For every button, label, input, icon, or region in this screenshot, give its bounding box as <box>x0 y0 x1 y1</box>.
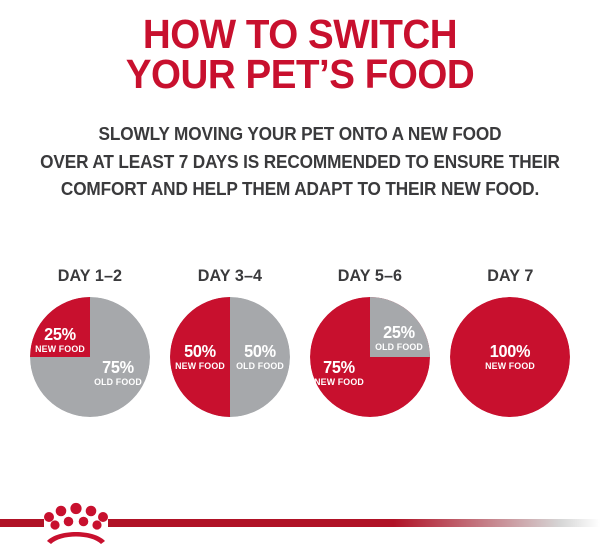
pie-disc-3 <box>310 297 430 417</box>
day-label-2: DAY 3–4 <box>198 266 262 286</box>
pie-chart-day-5-6: 25% OLD FOOD 75% NEW FOOD <box>310 297 430 417</box>
royal-canin-crown-logo <box>42 496 110 546</box>
day-label-1: DAY 1–2 <box>58 266 122 286</box>
pie-chart-row: DAY 1–2 25% NEW FOOD 75% OLD FOOD DAY 3–… <box>0 266 600 417</box>
pie-chart-day-7: 100% NEW FOOD <box>450 297 570 417</box>
pie-cell-day-7: DAY 7 100% NEW FOOD <box>440 266 580 417</box>
pie-disc-4 <box>450 297 570 417</box>
pie-svg-1 <box>30 297 150 417</box>
pie-cell-day-5-6: DAY 5–6 25% OLD FOOD 75% NEW FOOD <box>300 266 440 417</box>
footer-bar-right <box>108 519 600 527</box>
title-line-1: HOW TO SWITCH <box>18 14 582 54</box>
pie-svg-3 <box>310 297 430 417</box>
pie-chart-day-1-2: 25% NEW FOOD 75% OLD FOOD <box>30 297 150 417</box>
footer <box>0 490 600 552</box>
page-title: HOW TO SWITCH YOUR PET’S FOOD <box>0 0 600 94</box>
pie-disc-2 <box>170 297 290 417</box>
subtitle: SLOWLY MOVING YOUR PET ONTO A NEW FOOD O… <box>0 120 600 202</box>
subtitle-line-2: OVER AT LEAST 7 DAYS IS RECOMMENDED TO E… <box>21 148 579 175</box>
title-line-2: YOUR PET’S FOOD <box>18 54 582 94</box>
pie-svg-4 <box>450 297 570 417</box>
pie-disc-1 <box>30 297 150 417</box>
pie-cell-day-1-2: DAY 1–2 25% NEW FOOD 75% OLD FOOD <box>20 266 160 417</box>
day-label-3: DAY 5–6 <box>338 266 402 286</box>
pie-svg-2 <box>170 297 290 417</box>
subtitle-line-1: SLOWLY MOVING YOUR PET ONTO A NEW FOOD <box>21 120 579 147</box>
pie-chart-day-3-4: 50% NEW FOOD 50% OLD FOOD <box>170 297 290 417</box>
footer-bar-left <box>0 519 44 527</box>
crown-icon <box>42 496 110 546</box>
day-label-4: DAY 7 <box>487 266 533 286</box>
pie-cell-day-3-4: DAY 3–4 50% NEW FOOD 50% OLD FOOD <box>160 266 300 417</box>
subtitle-line-3: COMFORT AND HELP THEM ADAPT TO THEIR NEW… <box>21 175 579 202</box>
